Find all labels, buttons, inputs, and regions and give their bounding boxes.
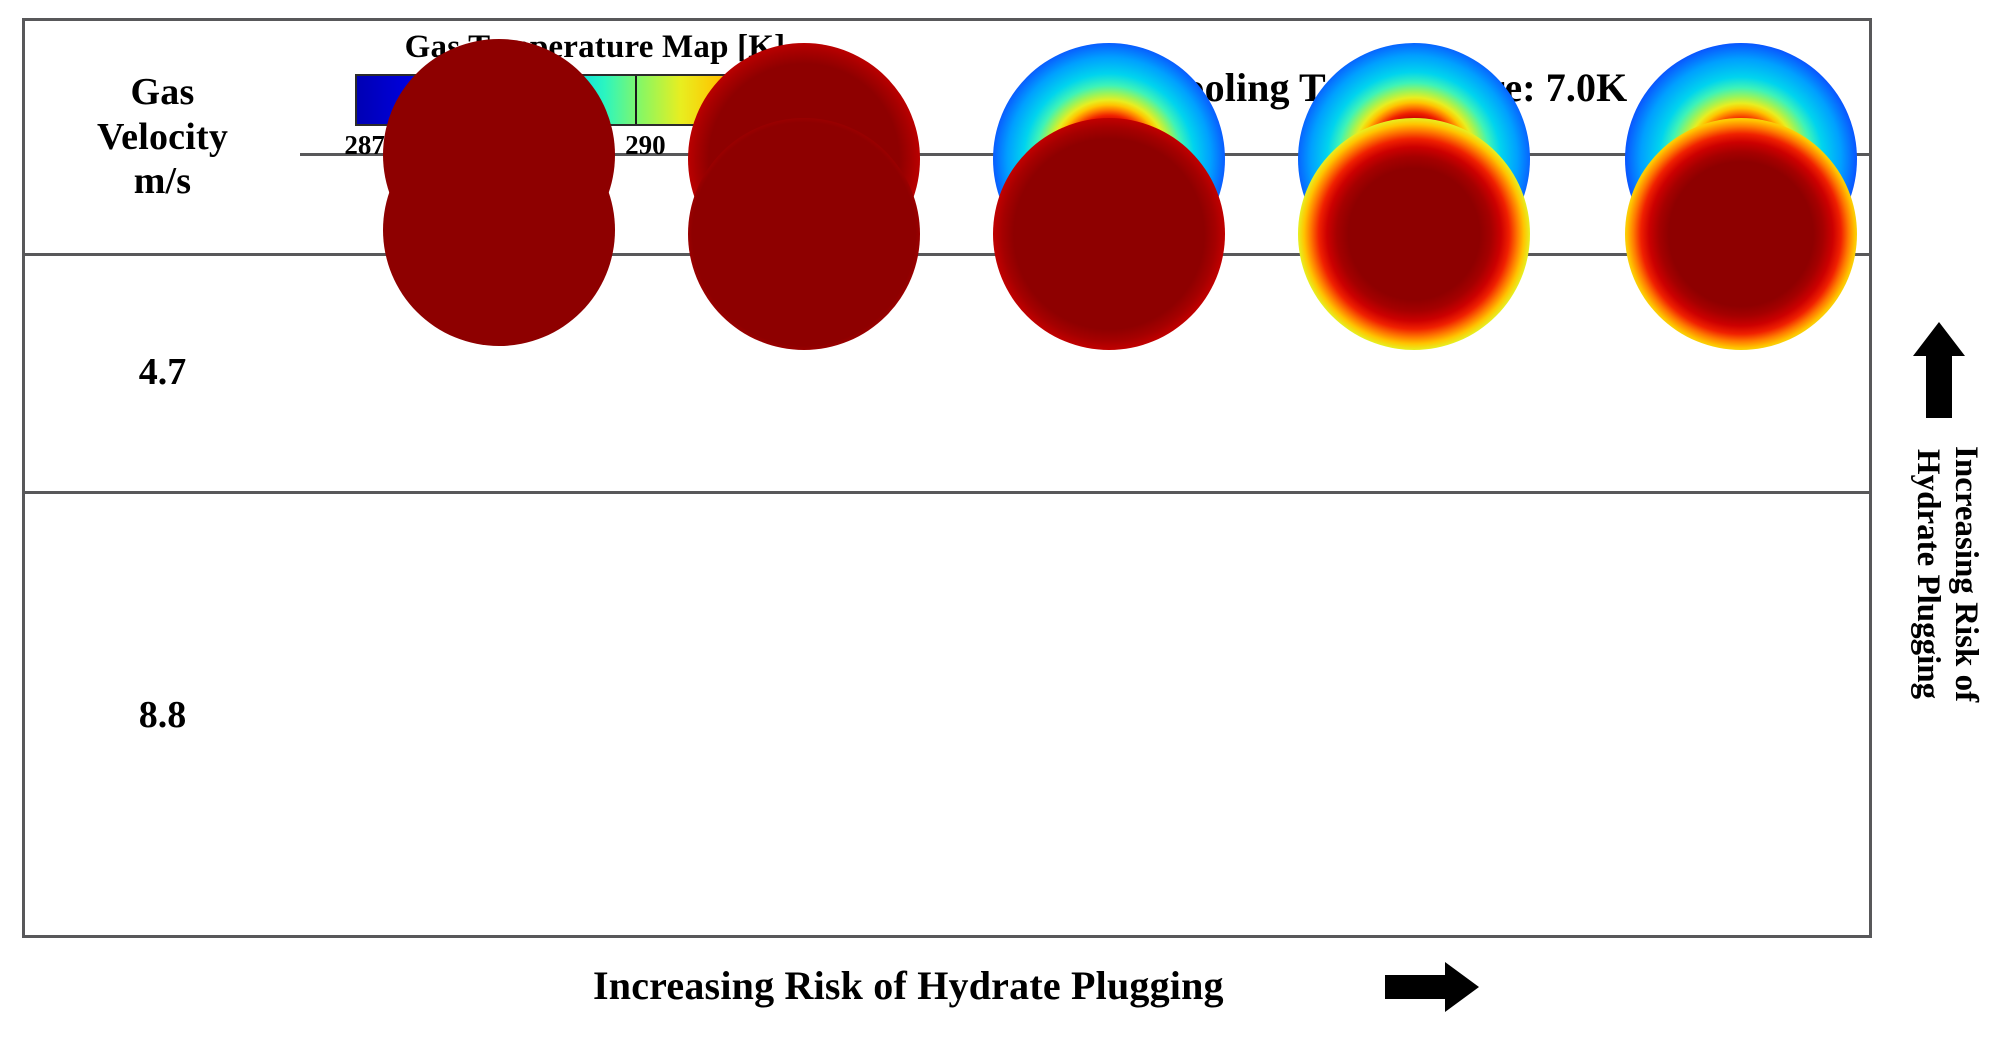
temperature-map-8.8-10.0m: [1625, 118, 1857, 350]
row-header-title-line1: Gas: [131, 70, 195, 115]
figure-table: Gas Velocity m/s Gas Temperature Map [K]…: [22, 18, 1872, 938]
colorbar-tickmark: [635, 76, 637, 124]
grid-hline-colheader: [25, 253, 1872, 256]
side-caption-line2: Hydrate Plugging: [1908, 446, 1946, 702]
figure-root: Gas Velocity m/s Gas Temperature Map [K]…: [0, 0, 2006, 1046]
row-header-title-line2: Velocity: [97, 115, 228, 160]
temperature-map-8.8-7.5m: [1298, 118, 1530, 350]
bottom-caption: Increasing Risk of Hydrate Plugging: [593, 962, 1224, 1009]
temperature-map-8.8-5.0m: [993, 118, 1225, 350]
arrow-up-icon: [1913, 322, 1965, 418]
temperature-map-8.8-0.1m: [383, 114, 615, 346]
arrow-right-icon: [1385, 962, 1479, 1012]
temperature-map-8.8-2.5m: [688, 118, 920, 350]
row-header-title: Gas Velocity m/s: [25, 21, 300, 253]
grid-hline-rows: [25, 491, 1872, 494]
row-label-0: 4.7: [25, 253, 300, 491]
side-caption-line1: Increasing Risk of: [1947, 446, 1985, 702]
row-header-title-line3: m/s: [134, 159, 192, 204]
row-label-1: 8.8: [25, 491, 300, 938]
side-caption: Increasing Risk of Hydrate Plugging: [1908, 446, 1985, 702]
